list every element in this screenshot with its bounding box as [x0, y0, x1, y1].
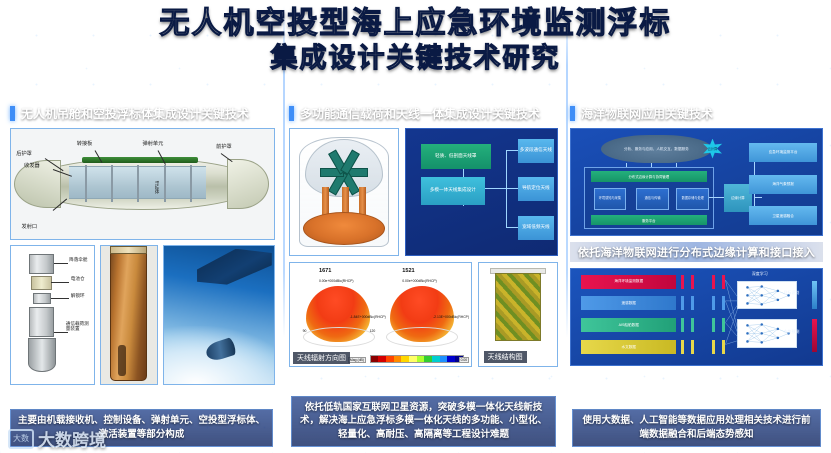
buoy-technical-drawing: 降落伞舱 电池仓 解锁环 通信载荷测量装置 — [10, 245, 95, 385]
iot-node-transmission[interactable]: 通信与传输 — [636, 188, 669, 209]
section-marker-icon — [10, 106, 15, 121]
parachute-bay-shape — [29, 254, 54, 273]
colorbar — [370, 355, 464, 363]
section-2-top-row: 轻质、低剖面天线罩 多模一体天线集成设计 多波段通信天线 导航定位天线 宽域低频… — [289, 128, 558, 256]
deep-learning-diagram: 海洋环境监测数据 遥感数据 AIS船舶数据 水文数据 — [570, 268, 823, 366]
caption-section-1: 主要由机载接收机、控制设备、弹射单元、空投型浮标体、激活装置等部分构成 — [10, 409, 273, 447]
caption-section-2: 依托低轨国家互联网卫星资源，突破多模一体化天线新技术，解决海上应急浮标多模一体化… — [291, 396, 556, 447]
antenna-flow-diagram: 轻质、低剖面天线罩 多模一体天线集成设计 多波段通信天线 导航定位天线 宽域低频… — [405, 128, 558, 256]
flow-line-branch-1 — [506, 150, 518, 151]
aircraft-wing — [197, 249, 272, 285]
iot-green-bar-top[interactable]: 分布式边缘计算与协同管理 — [591, 171, 706, 182]
unlock-ring-shape — [33, 293, 51, 304]
dl-bar-ais[interactable]: AIS船舶数据 — [581, 318, 676, 332]
iot-app-remote-sensing[interactable]: 卫星遥感融合 — [749, 206, 817, 225]
front-shroud-shape — [227, 159, 269, 210]
caption-section-3: 使用大数据、人工智能等数据应用处理相关技术进行前端数据融合和后端态势感知 — [572, 409, 821, 447]
dl-tick-2b — [691, 296, 694, 310]
flow-output-navigation[interactable]: 导航定位天线 — [518, 177, 554, 201]
title-line-1: 无人机空投型海上应急环境监测浮标 — [0, 6, 831, 41]
dl-tick-3a — [681, 318, 684, 332]
colorbar-max: 0.00 — [459, 357, 470, 363]
radiation-pattern-caption: 天线辐射方向图 — [293, 352, 350, 364]
antenna-ground-plane — [303, 212, 385, 245]
leader-unlock — [51, 298, 69, 299]
tube-ring-4 — [164, 165, 166, 201]
label-transceiver: 收发器 — [24, 162, 40, 169]
section-ocean-iot: 海洋物联网应用关键技术 分析、服务与应用、人机交互、数据服务 云计算 分布式边缘… — [566, 104, 831, 453]
flow-line-horizontal — [485, 188, 506, 189]
iot-line-edge-bus — [754, 197, 762, 198]
lobe-base-ellipse-right — [386, 327, 458, 347]
iot-architecture-diagram: 分析、服务与应用、人机交互、数据服务 云计算 分布式边缘计算与协同管理 环境感知… — [570, 128, 823, 236]
dl-tick-2d — [722, 296, 725, 310]
iot-app-forecast[interactable]: 海洋气象预报 — [749, 175, 817, 194]
label-rear-shroud: 后护罩 — [16, 150, 32, 157]
iot-app-monitoring[interactable]: 应急环境监测平台 — [749, 143, 817, 162]
dl-tick-2c — [712, 296, 715, 310]
pattern-angle-left: 90 — [303, 329, 307, 333]
battery-bay-shape — [31, 276, 53, 290]
buoy-photo — [100, 245, 158, 385]
flow-node-integrated-design[interactable]: 多模一体天线集成设计 — [421, 177, 484, 205]
dl-bar-hydrology[interactable]: 水文数据 — [581, 340, 676, 354]
dl-output-strip-2 — [812, 319, 817, 352]
section-3-title: 海洋物联网应用关键技术 — [581, 105, 713, 122]
flow-line-branch-3 — [506, 227, 518, 228]
dl-tick-3c — [712, 318, 715, 332]
section-marker-icon — [289, 106, 294, 121]
section-2-mid-row: 1671 1521 0.00e+000dBic(RHCP) 0.00e+000d… — [289, 262, 558, 367]
dl-tick-1b — [691, 275, 694, 289]
leader-battery — [51, 282, 69, 283]
section-1-title: 无人机吊舱和空投浮标体集成设计关键技术 — [21, 105, 249, 122]
section-1-header: 无人机吊舱和空投浮标体集成设计关键技术 — [10, 104, 275, 122]
drawing-label-parachute: 降落伞舱 — [69, 257, 87, 263]
antenna-structure-caption: 天线结构图 — [484, 351, 527, 363]
pattern-angle-right: 120 — [370, 329, 376, 333]
edge-computing-node[interactable]: 边缘计算 — [724, 184, 752, 212]
drawing-label-payload: 通信载荷测量装置 — [66, 321, 91, 332]
section-2-title: 多功能通信载荷和天线一体集成设计关键技术 — [300, 105, 540, 122]
iot-node-sensing[interactable]: 环境感知与采集 — [594, 188, 627, 209]
dl-tick-4b — [691, 340, 694, 354]
dl-tick-4d — [722, 340, 725, 354]
colorbar-title: Mag (dB) — [348, 357, 366, 363]
section-3-header: 海洋物联网应用关键技术 — [570, 104, 823, 122]
dl-bar-monitoring[interactable]: 海洋环境监测数据 — [581, 275, 676, 289]
dl-tick-3b — [691, 318, 694, 332]
drawing-label-battery: 电池仓 — [71, 276, 85, 282]
airdrop-test-photo — [163, 245, 275, 385]
dl-tick-1d — [722, 275, 725, 289]
label-ejection-unit: 弹射单元 — [143, 140, 164, 147]
payload-body-shape — [29, 307, 54, 337]
pattern-side-right: -2.13E+000dBic(RHCP) — [433, 315, 469, 319]
antenna-3d-model — [289, 128, 399, 256]
iot-mid-caption: 依托海洋物联网进行分布式边缘计算和接口接入 — [570, 242, 823, 262]
section-uav-pod: 无人机吊舱和空投浮标体集成设计关键技术 后护罩 — [0, 104, 283, 453]
poster-title: 无人机空投型海上应急环境监测浮标 集成设计关键技术研究 — [0, 6, 831, 75]
flow-line-branch-2 — [506, 188, 518, 189]
label-inner-buoy: 浮标体 — [153, 181, 159, 194]
dl-tick-4a — [681, 340, 684, 354]
dl-output-label-2: 态势预测 — [783, 329, 799, 335]
buoy-tube-cap-shape — [110, 246, 147, 254]
flow-output-multiband[interactable]: 多波段通信天线 — [518, 139, 554, 163]
dl-tick-4c — [712, 340, 715, 354]
buoy-cutaway-illustration: 后护罩 收发器 发射口 转接板 弹射单元 前护罩 浮标体 — [10, 128, 275, 240]
dl-tick-1c — [712, 275, 715, 289]
label-launch-port: 发射口 — [22, 223, 38, 230]
tube-ring-5 — [190, 165, 192, 201]
antenna-structure-image: 天线结构图 — [478, 262, 558, 367]
dl-tick-3d — [722, 318, 725, 332]
dl-output-label-1: 目标识别 — [783, 290, 799, 296]
lobe-base-ellipse-left — [303, 327, 375, 347]
antenna-elements — [317, 149, 371, 187]
nose-cone-shape — [28, 338, 56, 371]
buoy-tube-photo-shape — [110, 249, 147, 381]
tube-ring-3 — [137, 165, 139, 201]
iot-node-storage[interactable]: 数据存储与处理 — [676, 188, 709, 209]
pattern-peak-right: 0.00e+000dBic(RHCP) — [402, 279, 437, 283]
cloud-services-node[interactable]: 分析、服务与应用、人机交互、数据服务 — [601, 135, 711, 163]
drawing-label-unlock: 解锁环 — [71, 293, 85, 299]
poster-root: 无人机空投型海上应急环境监测浮标 集成设计关键技术研究 无人机吊舱和空投浮标体集… — [0, 0, 831, 453]
pattern-freq-right: 1521 — [402, 268, 414, 274]
pattern-peak-left: 0.00e+000dBic(RHCP) — [319, 279, 354, 283]
antenna-structure-body — [495, 273, 542, 341]
dl-tick-2a — [681, 296, 684, 310]
pattern-side-left: -1.84E+000dBic(RHCP) — [350, 315, 386, 319]
section-1-image-row: 降落伞舱 电池仓 解锁环 通信载荷测量装置 — [10, 245, 275, 385]
title-line-2: 集成设计关键技术研究 — [0, 43, 831, 75]
tube-ring-1 — [85, 165, 87, 201]
buoy-tube-slot-shape — [118, 345, 126, 375]
dl-tick-1a — [681, 275, 684, 289]
section-2-header: 多功能通信载荷和天线一体集成设计关键技术 — [289, 104, 558, 122]
antenna-radiation-pattern: 1671 1521 0.00e+000dBic(RHCP) 0.00e+000d… — [289, 262, 472, 367]
flow-output-wideband[interactable]: 宽域低频天线 — [518, 216, 554, 240]
label-front-shroud: 前护罩 — [216, 143, 232, 150]
dl-bar-remote-sensing[interactable]: 遥感数据 — [581, 296, 676, 310]
pattern-freq-left: 1671 — [319, 268, 331, 274]
label-adapter-plate: 转接板 — [77, 140, 93, 147]
dl-output-strip-1 — [812, 281, 817, 310]
section-marker-icon — [570, 106, 575, 121]
flow-node-radome[interactable]: 轻质、低剖面天线罩 — [421, 144, 490, 169]
leader-parachute — [54, 263, 68, 264]
dl-title: 深度学习 — [752, 271, 768, 277]
iot-line-to-edge — [709, 197, 724, 198]
iot-green-bar-bottom[interactable]: 服务平台 — [591, 215, 706, 226]
tube-ring-2 — [111, 165, 113, 201]
